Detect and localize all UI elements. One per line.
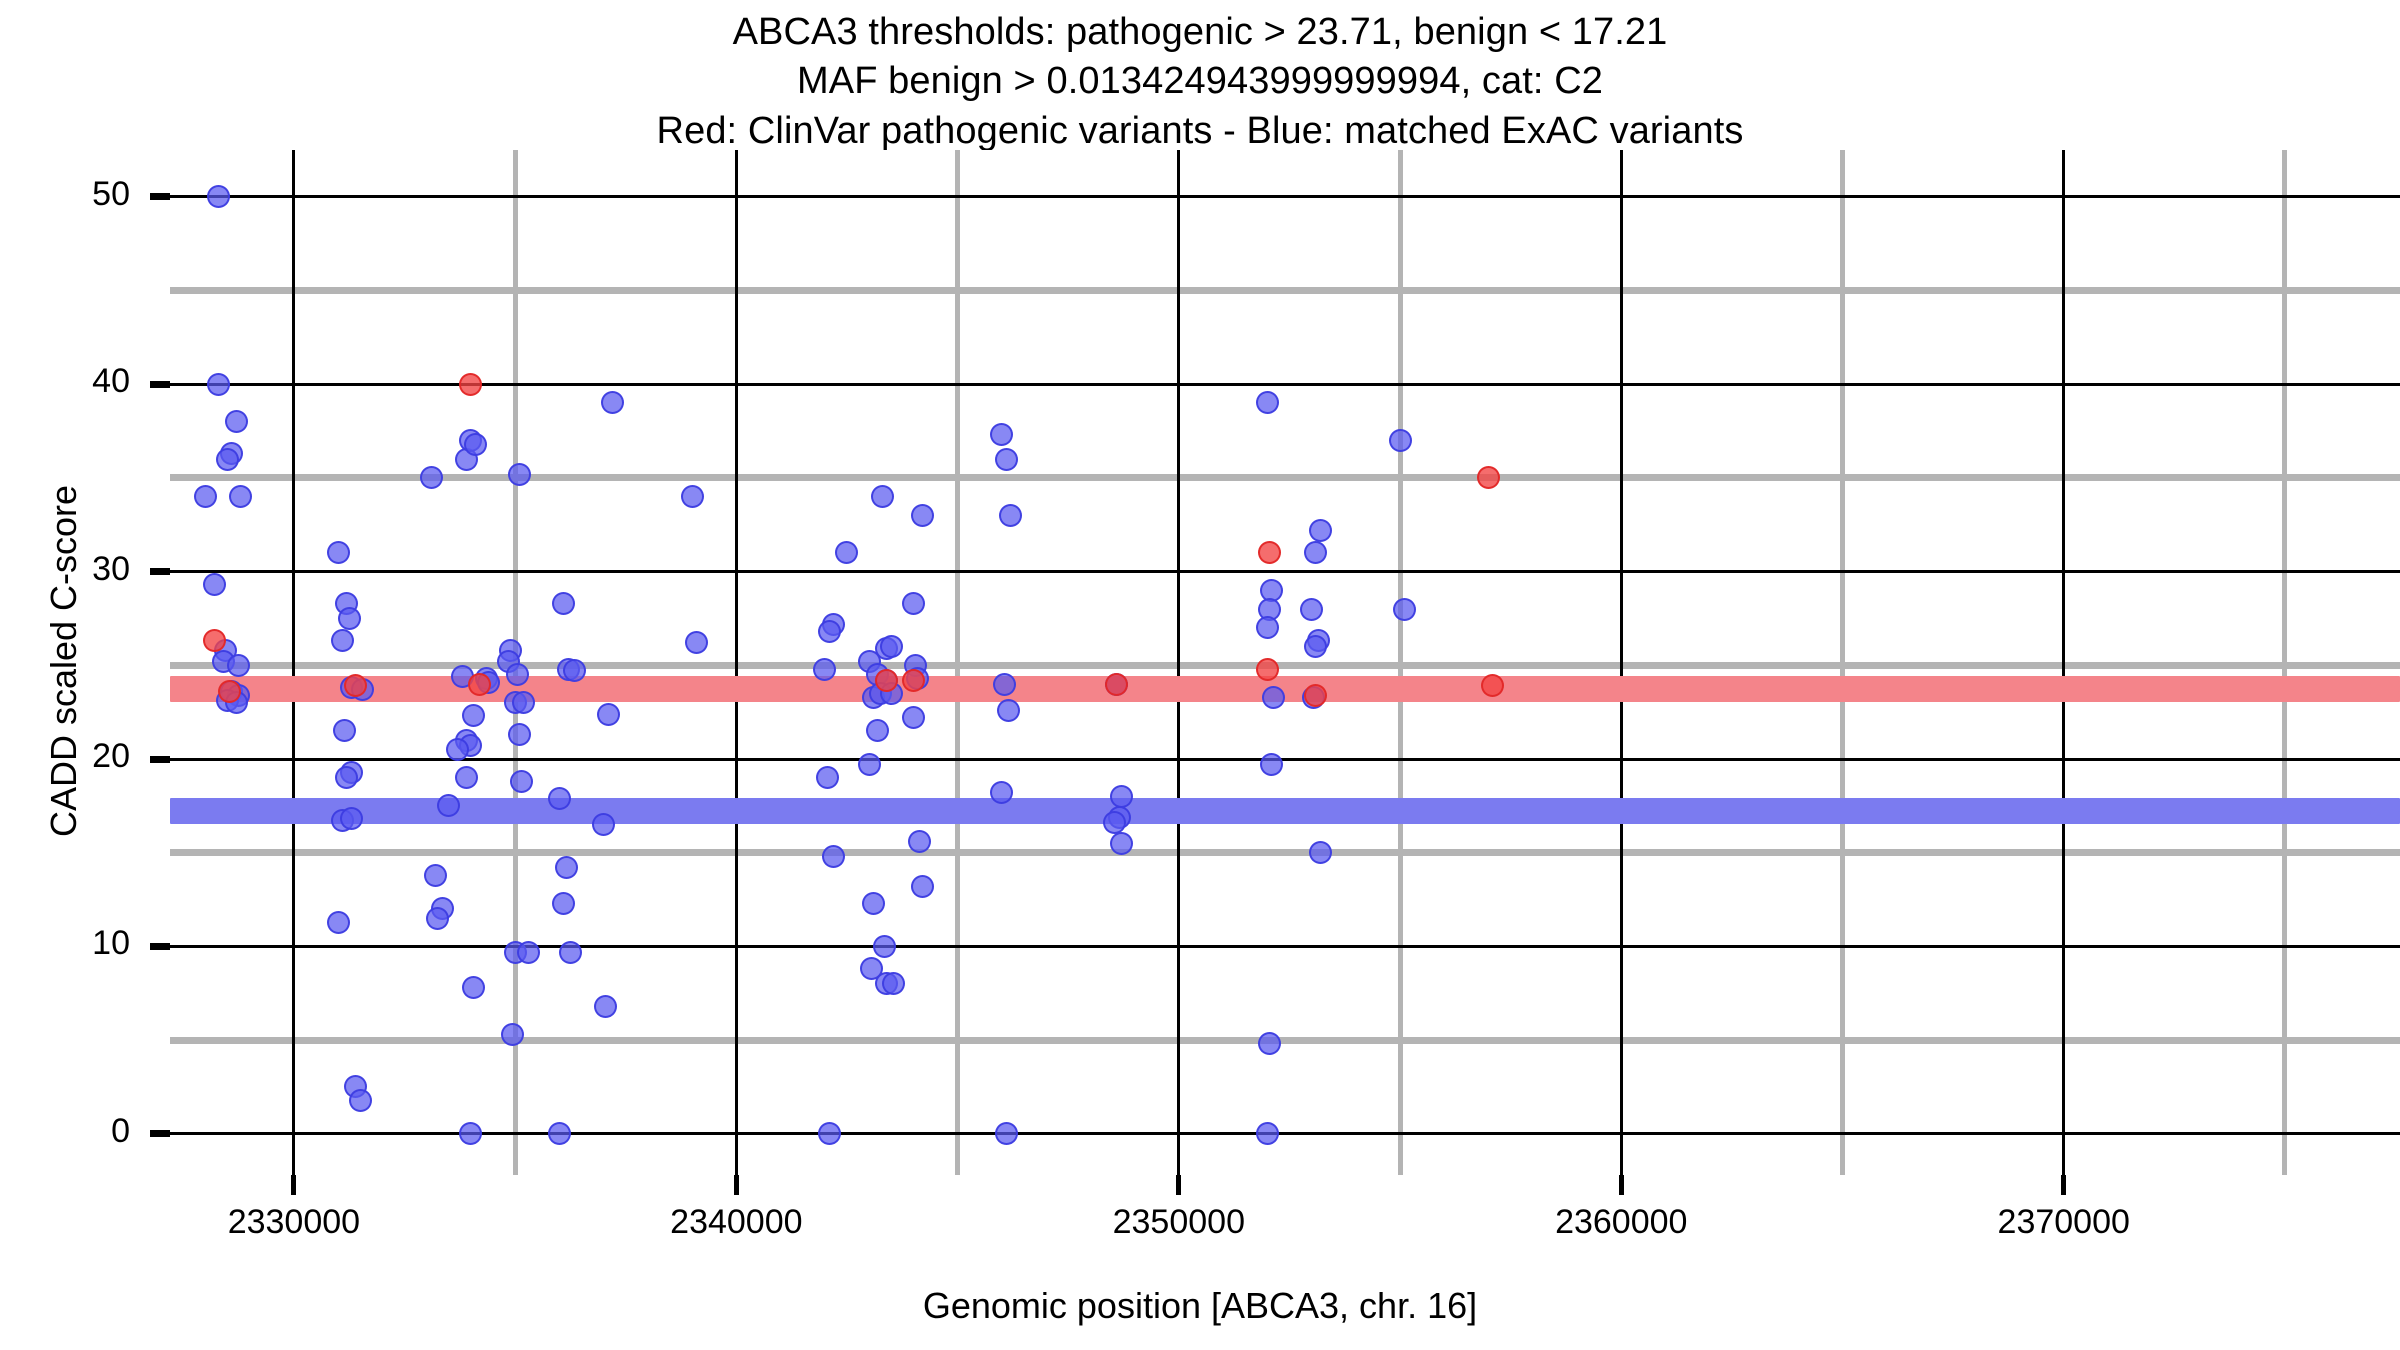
data-point-exac: [1309, 519, 1332, 542]
data-point-exac: [506, 663, 529, 686]
data-point-exac: [227, 654, 250, 677]
data-point-exac: [349, 1089, 372, 1112]
data-point-exac: [902, 592, 925, 615]
gridline-major-horizontal: [170, 570, 2400, 573]
data-point-exac: [597, 703, 620, 726]
data-point-exac: [207, 373, 230, 396]
data-point-exac: [1110, 832, 1133, 855]
data-point-exac: [512, 691, 535, 714]
data-point-pathogenic: [1477, 466, 1500, 489]
data-point-exac: [1256, 391, 1279, 414]
data-point-exac: [999, 504, 1022, 527]
x-axis-tick-mark: [1619, 1175, 1624, 1195]
y-axis-tick-mark: [150, 193, 170, 200]
data-point-exac: [331, 629, 354, 652]
gridline-major-horizontal: [170, 1132, 2400, 1135]
data-point-exac: [1256, 616, 1279, 639]
data-point-exac: [1260, 753, 1283, 776]
gridline-major-vertical: [1620, 150, 1623, 1175]
data-point-exac: [338, 607, 361, 630]
data-point-exac: [424, 864, 447, 887]
chart-title-line-3: Red: ClinVar pathogenic variants - Blue:…: [0, 107, 2400, 156]
x-axis-label: Genomic position [ABCA3, chr. 16]: [0, 1285, 2400, 1327]
data-point-exac: [462, 704, 485, 727]
x-axis-tick-label: 2350000: [999, 1203, 1359, 1242]
y-axis-tick-mark: [150, 381, 170, 388]
data-point-exac: [459, 1122, 482, 1145]
y-axis-tick-label: 30: [10, 550, 130, 589]
x-axis-tick-mark: [734, 1175, 739, 1195]
gridline-major-horizontal: [170, 758, 2400, 761]
gridline-minor-vertical: [1398, 150, 1403, 1175]
data-point-pathogenic: [1256, 658, 1279, 681]
data-point-exac: [880, 635, 903, 658]
data-point-exac: [426, 907, 449, 930]
data-point-exac: [462, 976, 485, 999]
data-point-exac: [464, 433, 487, 456]
y-axis-tick-label: 40: [10, 362, 130, 401]
gridline-major-vertical: [735, 150, 738, 1175]
data-point-exac: [340, 807, 363, 830]
chart-title: ABCA3 thresholds: pathogenic > 23.71, be…: [0, 8, 2400, 156]
gridline-major-vertical: [292, 150, 295, 1175]
y-axis-tick-label: 10: [10, 924, 130, 963]
data-point-exac: [1110, 785, 1133, 808]
x-axis-tick-mark: [291, 1175, 296, 1195]
data-point-pathogenic: [468, 673, 491, 696]
y-axis-tick-label: 50: [10, 175, 130, 214]
data-point-exac: [1389, 429, 1412, 452]
x-axis-tick-label: 2370000: [1884, 1203, 2244, 1242]
data-point-exac: [993, 673, 1016, 696]
data-point-exac: [207, 185, 230, 208]
data-point-exac: [594, 995, 617, 1018]
data-point-exac: [229, 485, 252, 508]
data-point-exac: [455, 766, 478, 789]
data-point-exac: [1393, 598, 1416, 621]
data-point-pathogenic: [1258, 541, 1281, 564]
gridline-major-horizontal: [170, 383, 2400, 386]
data-point-exac: [911, 504, 934, 527]
data-point-exac: [1103, 811, 1126, 834]
plot-area: [170, 150, 2400, 1175]
x-axis-tick-mark: [1176, 1175, 1181, 1195]
data-point-exac: [555, 856, 578, 879]
data-point-exac: [225, 410, 248, 433]
y-axis-label: CADD scaled C-score: [43, 311, 85, 1011]
y-axis-tick-mark: [150, 756, 170, 763]
data-point-exac: [813, 658, 836, 681]
data-point-exac: [1309, 841, 1332, 864]
data-point-exac: [871, 485, 894, 508]
gridline-minor-vertical: [2282, 150, 2287, 1175]
gridline-minor-vertical: [1840, 150, 1845, 1175]
data-point-exac: [203, 573, 226, 596]
data-point-exac: [548, 787, 571, 810]
data-point-exac: [822, 845, 845, 868]
data-point-exac: [866, 719, 889, 742]
y-axis-tick-mark: [150, 943, 170, 950]
data-point-exac: [1258, 1032, 1281, 1055]
data-point-pathogenic: [902, 669, 925, 692]
data-point-exac: [681, 485, 704, 508]
data-point-pathogenic: [459, 373, 482, 396]
x-axis-tick-label: 2340000: [556, 1203, 916, 1242]
data-point-exac: [510, 770, 533, 793]
data-point-exac: [559, 941, 582, 964]
data-point-exac: [1262, 686, 1285, 709]
y-axis-tick-mark: [150, 568, 170, 575]
scatter-plot-figure: ABCA3 thresholds: pathogenic > 23.71, be…: [0, 0, 2400, 1350]
data-point-exac: [873, 935, 896, 958]
data-point-exac: [508, 723, 531, 746]
data-point-exac: [1300, 598, 1323, 621]
x-axis-tick-label: 2360000: [1441, 1203, 1801, 1242]
data-point-exac: [592, 813, 615, 836]
data-point-exac: [818, 1122, 841, 1145]
y-axis-tick-label: 0: [10, 1112, 130, 1151]
data-point-exac: [517, 941, 540, 964]
data-point-exac: [335, 766, 358, 789]
data-point-exac: [327, 541, 350, 564]
gridline-minor-horizontal: [170, 287, 2400, 294]
data-point-exac: [995, 448, 1018, 471]
data-point-exac: [990, 423, 1013, 446]
data-point-exac: [420, 466, 443, 489]
gridline-major-vertical: [1177, 150, 1180, 1175]
data-point-exac: [552, 892, 575, 915]
chart-title-line-1: ABCA3 thresholds: pathogenic > 23.71, be…: [0, 8, 2400, 57]
data-point-exac: [333, 719, 356, 742]
data-point-exac: [327, 911, 350, 934]
data-point-exac: [818, 620, 841, 643]
data-point-exac: [902, 706, 925, 729]
data-point-exac: [685, 631, 708, 654]
x-axis-tick-mark: [2061, 1175, 2066, 1195]
y-axis-tick-label: 20: [10, 737, 130, 776]
data-point-pathogenic: [1304, 684, 1327, 707]
y-axis-tick-mark: [150, 1130, 170, 1137]
gridline-minor-horizontal: [170, 474, 2400, 481]
chart-title-line-2: MAF benign > 0.013424943999999994, cat: …: [0, 57, 2400, 106]
data-point-exac: [508, 463, 531, 486]
data-point-exac: [601, 391, 624, 414]
data-point-exac: [194, 485, 217, 508]
data-point-exac: [858, 753, 881, 776]
x-axis-tick-label: 2330000: [114, 1203, 474, 1242]
data-point-exac: [552, 592, 575, 615]
gridline-major-horizontal: [170, 195, 2400, 198]
data-point-exac: [911, 875, 934, 898]
data-point-exac: [548, 1122, 571, 1145]
data-point-exac: [216, 448, 239, 471]
data-point-exac: [995, 1122, 1018, 1145]
data-point-pathogenic: [875, 669, 898, 692]
data-point-exac: [862, 892, 885, 915]
data-point-exac: [882, 972, 905, 995]
benign-threshold-band: [170, 798, 2400, 824]
data-point-exac: [1304, 541, 1327, 564]
data-point-pathogenic: [1105, 673, 1128, 696]
data-point-exac: [997, 699, 1020, 722]
data-point-exac: [1304, 635, 1327, 658]
data-point-exac: [816, 766, 839, 789]
data-point-exac: [1256, 1122, 1279, 1145]
gridline-minor-vertical: [955, 150, 960, 1175]
gridline-major-vertical: [2062, 150, 2065, 1175]
gridline-minor-horizontal: [170, 849, 2400, 856]
data-point-exac: [835, 541, 858, 564]
